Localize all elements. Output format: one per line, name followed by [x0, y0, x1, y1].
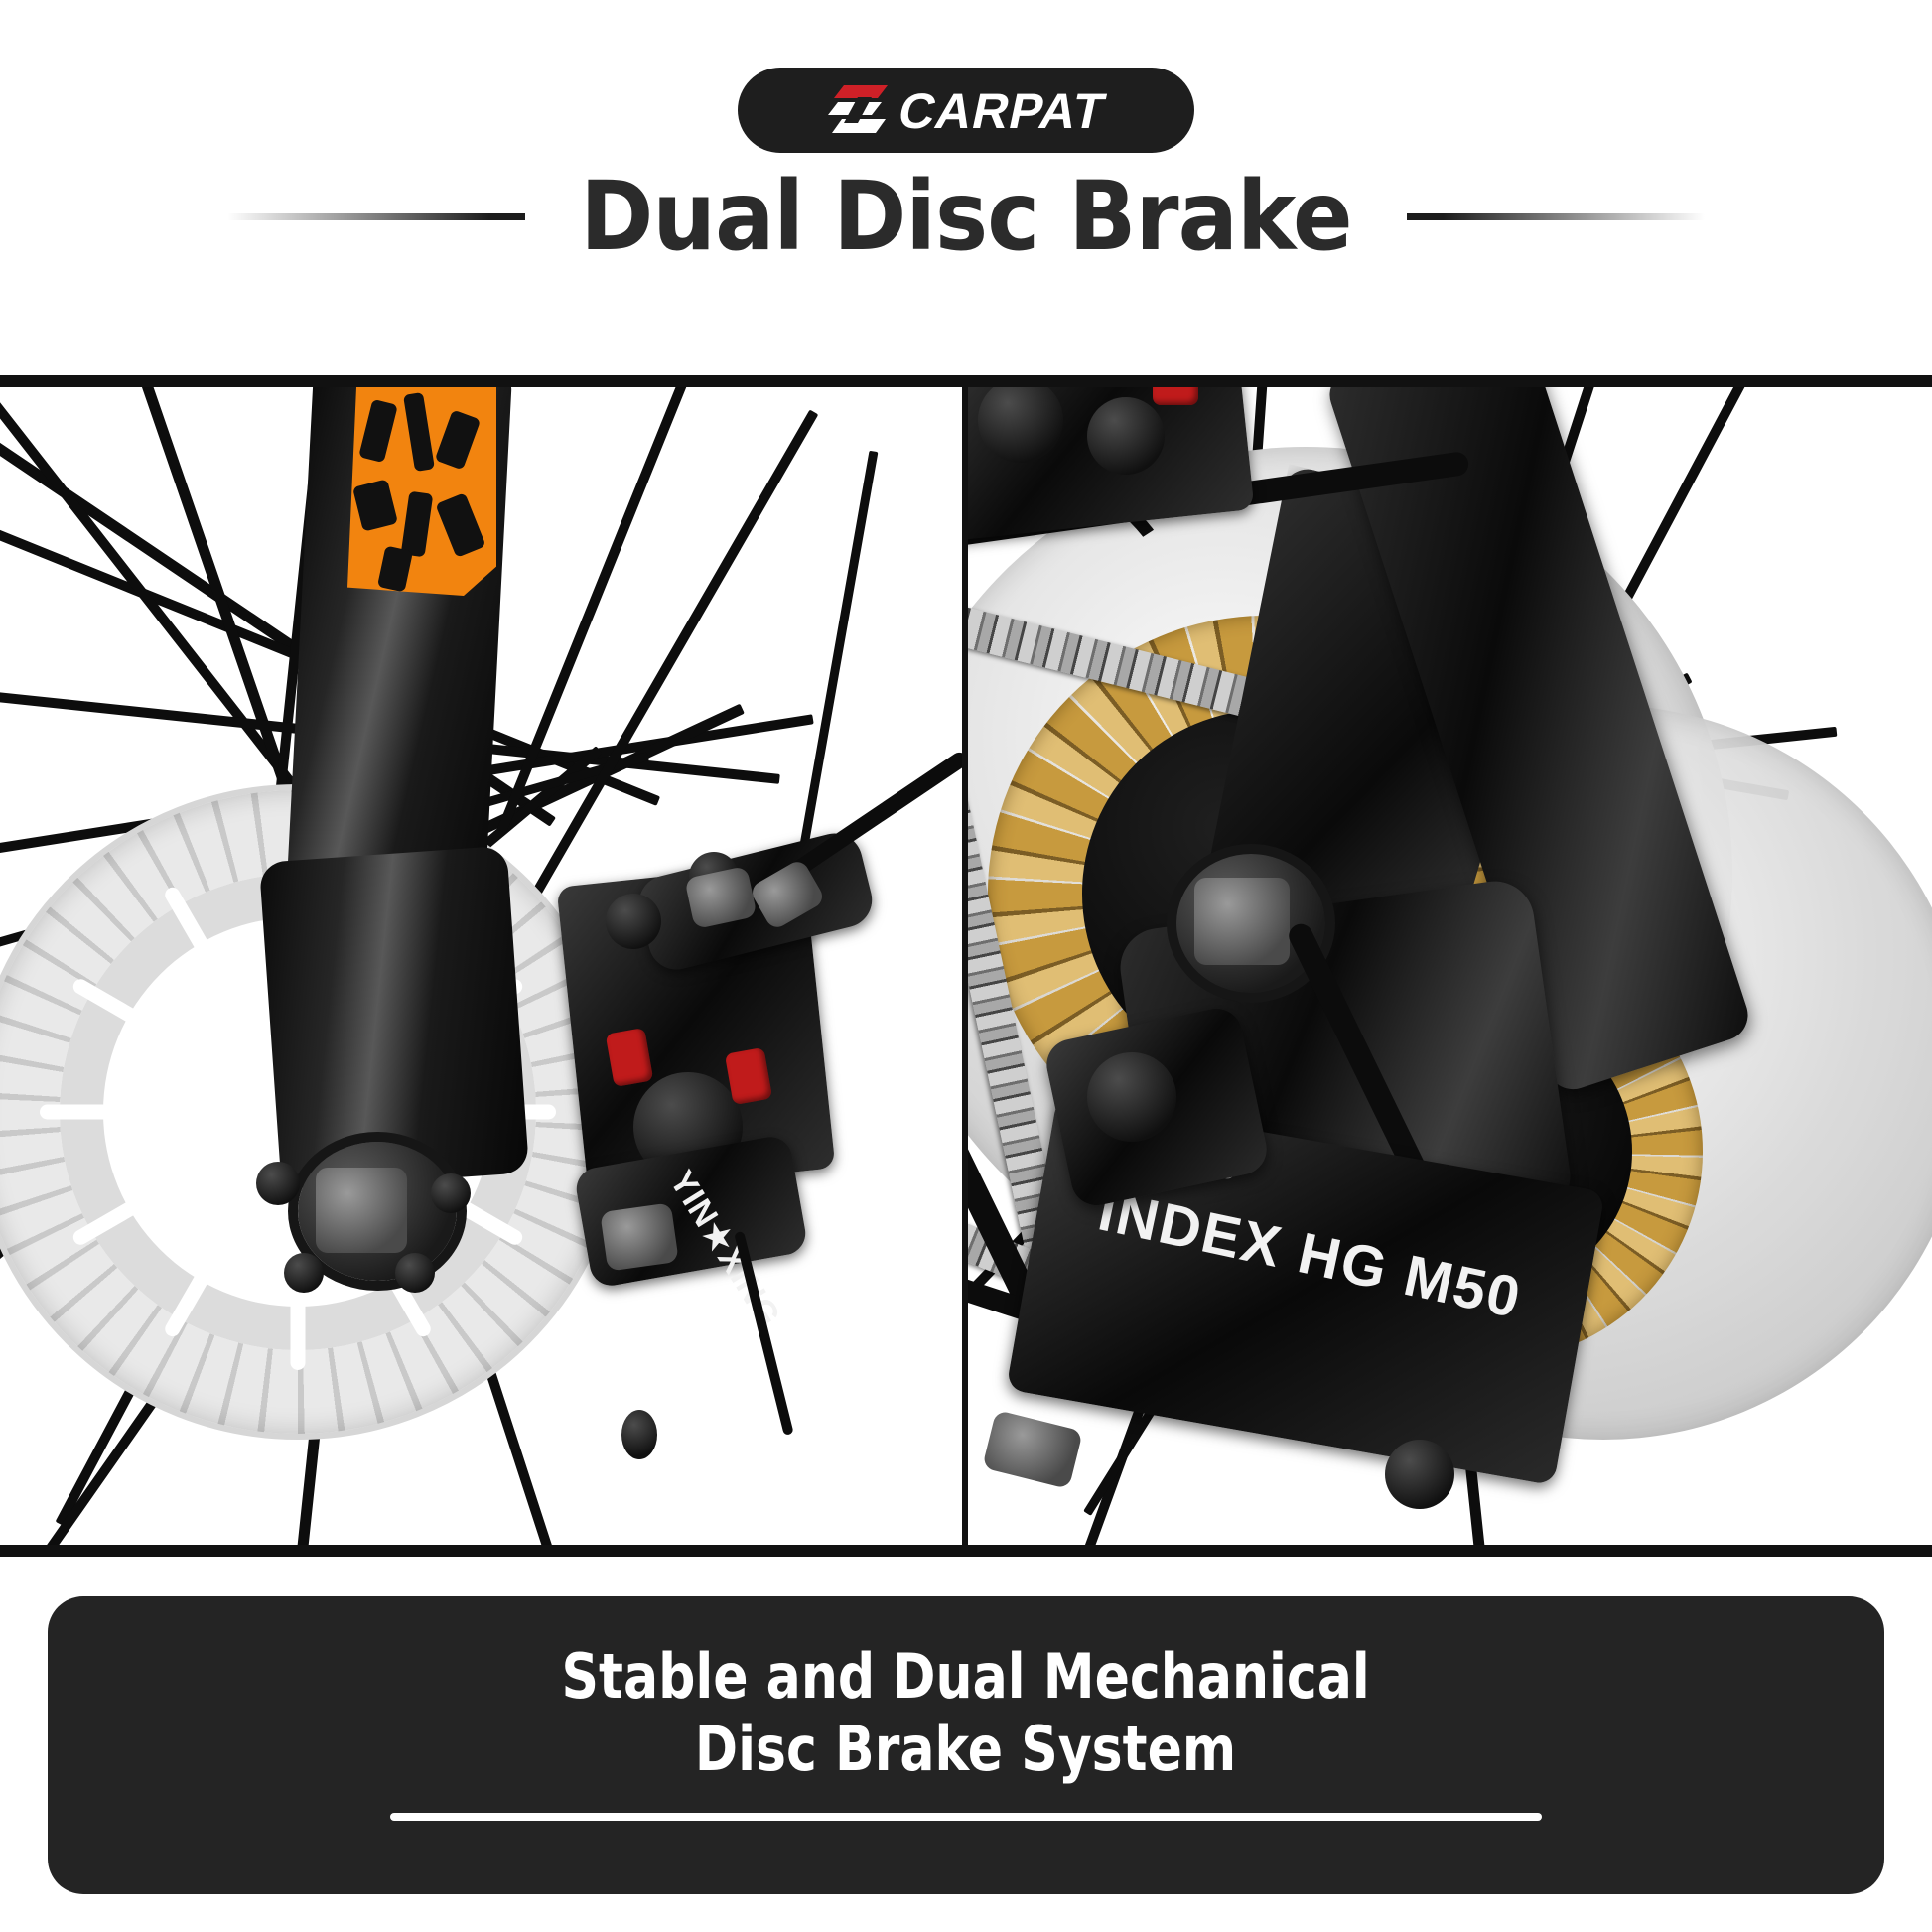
brand-logo: CARPAT: [738, 68, 1194, 153]
page-title: Dual Disc Brake: [580, 169, 1351, 264]
product-photo-strip: YIN★XING: [0, 375, 1932, 1557]
rear-cassette-derailleur-photo: INDEX HG M50 50: [968, 387, 1932, 1545]
brand-logo-text: CARPAT: [894, 86, 1110, 136]
front-disc-brake-photo: YIN★XING: [0, 387, 968, 1545]
infographic-page: CARPAT Dual Disc Brake: [0, 0, 1932, 1932]
title-row: Dual Disc Brake: [0, 169, 1932, 264]
title-rule-right: [1407, 213, 1705, 220]
rear-pad-indicator: [1153, 387, 1198, 405]
header: CARPAT Dual Disc Brake: [0, 0, 1932, 375]
carpat-c-mark-icon: [828, 83, 890, 137]
fork-lower-dropout: [259, 846, 529, 1190]
brake-cable-lower: [734, 1231, 794, 1436]
axle-nut: [316, 1168, 407, 1253]
caption-underline: [390, 1813, 1542, 1821]
feature-caption-box: Stable and Dual Mechanical Disc Brake Sy…: [48, 1596, 1884, 1894]
caption-line-1: Stable and Dual Mechanical: [562, 1640, 1370, 1713]
caption-line-2: Disc Brake System: [695, 1713, 1236, 1785]
rear-axle-nut: [1194, 878, 1290, 965]
title-rule-left: [227, 213, 525, 220]
fork-orange-decal: [347, 387, 496, 596]
